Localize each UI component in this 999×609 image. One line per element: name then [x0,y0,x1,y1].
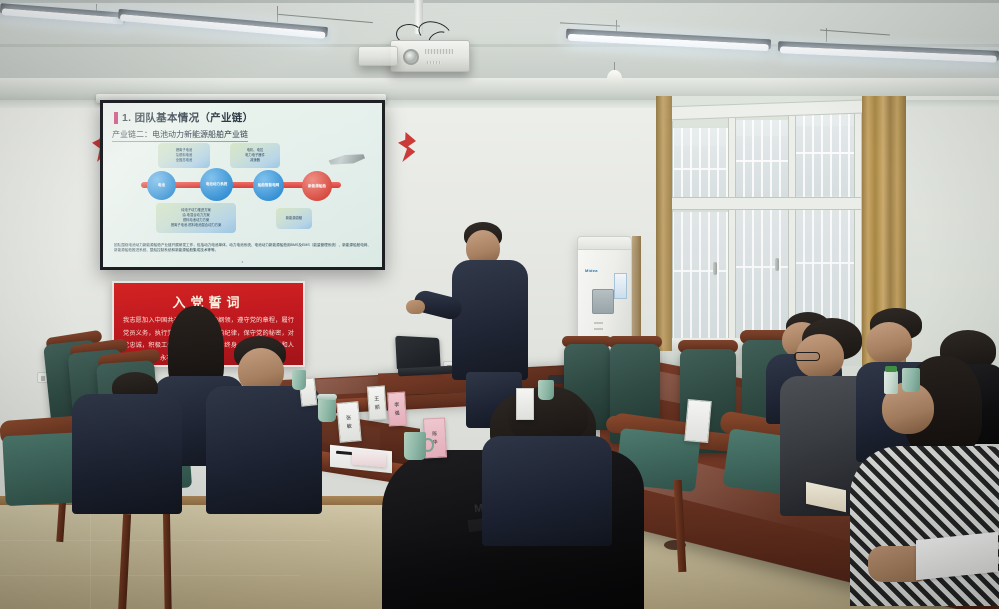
tea-cup[interactable] [292,370,306,390]
slide-title: 1. 团队基本情况（产业链） [122,110,253,125]
curtain-left[interactable] [656,96,672,351]
presenter-torso [452,260,528,380]
ac-brand-label: Midea [585,268,598,273]
window-transom [668,198,861,209]
tea-cup[interactable] [538,380,554,400]
chain-box-propulsion-solutions: 纯电子动力推进方案 油-电混合动力方案 燃料电池动力方案 锂离子电池-燃料电池混… [156,203,236,233]
document-paper[interactable] [352,450,386,467]
window-pane [734,208,790,340]
chain-box-yacht: 新能源游艇 [276,208,312,229]
chain-node-new-energy-ship: 新能源船舶 [302,171,332,201]
window-mullion [789,112,795,342]
water-bottle[interactable] [884,370,898,394]
ship-illustration-icon [327,149,365,169]
chain-node-battery: 电池 [147,171,176,200]
slide-title-accent-bar [114,112,118,124]
name-placard: 李 强 [387,392,407,427]
attendee-head [866,322,912,364]
meeting-room-photo: 1. 团队基本情况（产业链） 产业链二：电池动力新能源船舶产业链 锂离子电池 氢… [0,0,999,609]
projector-vent [425,49,453,54]
slide-subtitle: 产业链二：电池动力新能源船舶产业链 [112,129,248,142]
name-placard: 张 敏 [336,401,361,443]
attendee-torso [482,436,612,546]
slide-page-number: 6 [103,260,382,264]
ceiling-projector [390,40,470,72]
projector-vent [427,61,441,64]
chain-box-battery-types: 锂离子电池 氢燃料电池 全固态电池 [158,143,210,168]
ac-display-panel[interactable] [592,289,614,314]
glasses-icon [794,352,820,361]
tea-cup[interactable] [318,398,336,422]
slide-body-text: 团队围绕电池动力新能源船舶产业链开展研发工作，包括动力电池单体、动力电池系统、电… [114,243,371,255]
attendee-coat [850,446,999,606]
projector-bracket [358,46,398,66]
window-handle[interactable] [775,258,779,271]
ac-top-vent [578,237,631,250]
window-mullion [855,108,861,342]
projector-lens [403,49,419,65]
tea-cup[interactable] [902,368,920,392]
window-pane [794,112,856,200]
window-pane [672,212,730,340]
cup-lid [317,394,337,400]
window-handle[interactable] [713,262,717,275]
name-placard [516,388,534,420]
chain-box-powertrain-parts: 电机、电控 电力电子器件 减速器 [230,143,280,168]
window-pane [734,120,790,202]
name-placard: 王 丽 [367,385,387,420]
attendee-torso [72,394,182,514]
chain-node-smart-grid: 船舶智能电网 [253,170,284,201]
window-pane [672,128,730,206]
presenter-hand [406,300,425,314]
window-mullion [729,118,735,344]
pendant-lamp [607,70,622,87]
ac-energy-label [614,273,627,299]
slide-surface: 1. 团队基本情况（产业链） 产业链二：电池动力新能源船舶产业链 锂离子电池 氢… [103,103,382,267]
banner-title: 入党誓词 [114,292,303,311]
projection-screen: 1. 团队基本情况（产业链） 产业链二：电池动力新能源船舶产业链 锂离子电池 氢… [100,100,385,270]
chain-node-battery-power-system: 电池动力系统 [200,168,233,201]
bottle-cap [885,366,897,372]
cup-handle [422,438,434,452]
name-placard [684,399,712,443]
